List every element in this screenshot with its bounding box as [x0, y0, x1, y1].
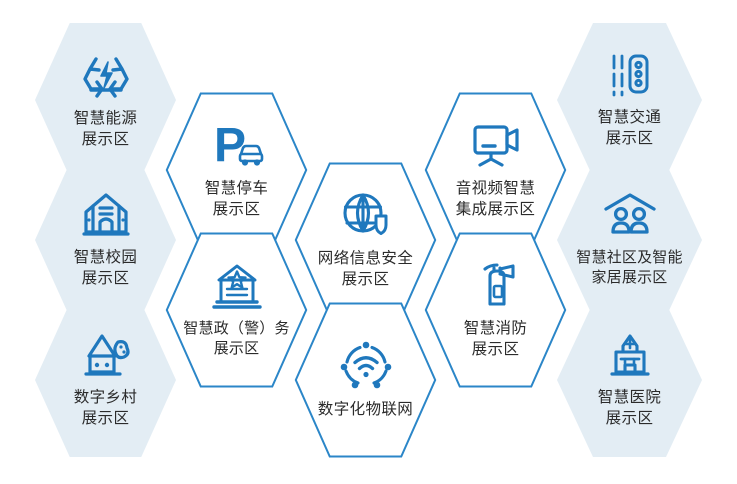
video-camera-icon — [467, 119, 525, 171]
hex-cell-smart-campus[interactable]: 智慧校园 展示区 — [34, 162, 177, 318]
hex-cell-network-security[interactable]: 网络信息安全 展示区 — [294, 162, 437, 318]
hex-label: 智慧校园 展示区 — [74, 248, 138, 290]
community-people-roof-icon — [601, 192, 659, 240]
hex-label: 数字乡村 展示区 — [74, 388, 138, 430]
hex-label: 智慧停车 展示区 — [205, 179, 269, 221]
hex-label: 智慧社区及智能 家居展示区 — [576, 248, 682, 288]
school-building-icon — [78, 190, 134, 240]
hex-cell-smart-community[interactable]: 智慧社区及智能 家居展示区 — [556, 162, 703, 318]
iot-wifi-icon — [339, 340, 393, 392]
government-building-star-icon — [209, 261, 265, 311]
honeycomb-diagram: 智慧能源 展示区 智慧校园 展示区 — [0, 0, 737, 484]
hex-label: 数字化物联网 — [318, 400, 413, 421]
traffic-light-icon — [605, 50, 655, 100]
recycle-energy-icon — [78, 49, 134, 101]
hex-cell-smart-firefighting[interactable]: 智慧消防 展示区 — [424, 232, 567, 388]
hex-label: 音视频智慧 集成展示区 — [456, 179, 536, 221]
hex-label: 智慧交通 展示区 — [598, 108, 662, 150]
svg-text:P: P — [214, 119, 246, 171]
hex-cell-smart-energy[interactable]: 智慧能源 展示区 — [34, 22, 177, 178]
hex-label: 智慧医院 展示区 — [598, 388, 662, 430]
globe-shield-icon — [338, 189, 394, 241]
hex-label: 智慧政（警）务 展示区 — [183, 319, 289, 359]
hex-cell-smart-government[interactable]: 智慧政（警）务 展示区 — [165, 232, 308, 388]
hex-cell-smart-hospital[interactable]: 智慧医院 展示区 — [556, 302, 703, 458]
hex-cell-smart-parking[interactable]: P 智慧停车 展示区 — [165, 92, 308, 248]
hex-cell-digital-village[interactable]: 数字乡村 展示区 — [34, 302, 177, 458]
hex-cell-smart-traffic[interactable]: 智慧交通 展示区 — [556, 22, 703, 178]
hex-label: 智慧能源 展示区 — [74, 109, 138, 151]
hospital-building-icon — [603, 330, 657, 380]
hex-cell-digital-iot[interactable]: 数字化物联网 — [294, 302, 437, 458]
fire-extinguisher-icon — [470, 259, 522, 311]
village-house-tree-icon — [78, 330, 134, 380]
hex-cell-av-integration[interactable]: 音视频智慧 集成展示区 — [424, 92, 567, 248]
hex-label: 网络信息安全 展示区 — [318, 249, 413, 291]
hex-label: 智慧消防 展示区 — [464, 319, 528, 361]
parking-car-icon: P — [208, 119, 266, 171]
